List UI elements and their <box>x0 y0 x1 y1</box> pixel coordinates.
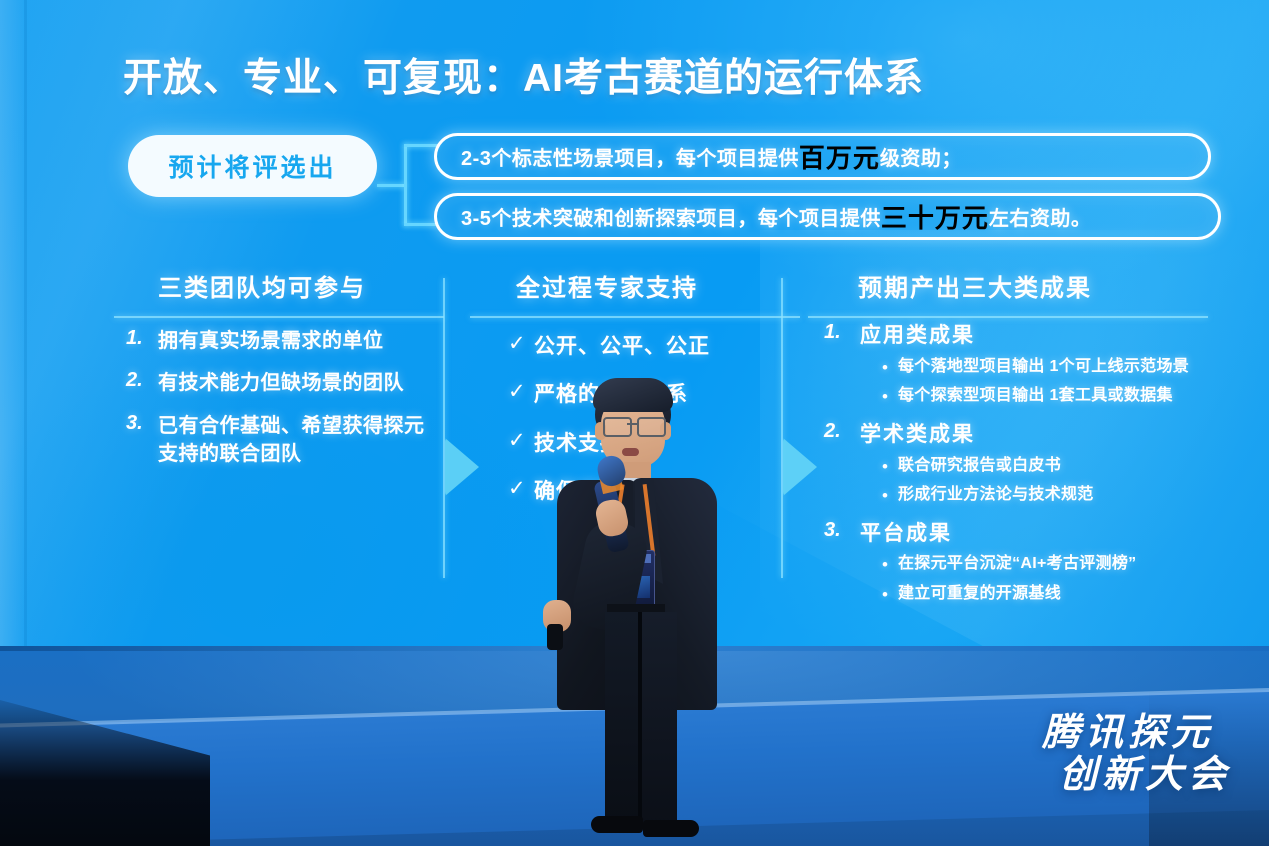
funding-pill-2-amount: 三十万元 <box>881 198 989 235</box>
glasses-bridge <box>627 423 638 425</box>
sub-list-item-label: 建立可重复的开源基线 <box>898 582 1061 606</box>
screen-panel-seam <box>24 0 27 648</box>
watermark-line-1: 腾讯探元 <box>1015 714 1241 754</box>
sub-list-item-label: 联合研究报告或白皮书 <box>898 454 1061 478</box>
funding-pill-2-text-c: 左右资助。 <box>989 202 1092 231</box>
list-item-label: 有技术能力但缺场景的团队 <box>158 369 404 397</box>
list-item-number: 1. <box>824 321 860 351</box>
list-item: 2. 有技术能力但缺场景的团队 <box>126 369 426 397</box>
glasses-icon <box>603 417 632 437</box>
column-3-list: 1. 应用类成果 • 每个落地型项目输出 1个可上线示范场景 • 每个探索型项目… <box>820 321 1196 607</box>
funding-pill-2: 3-5个技术突破和创新探索项目，每个项目提供 三十万元 左右资助。 <box>434 193 1221 240</box>
connector-stem <box>377 184 405 187</box>
bullet-icon: • <box>882 384 898 410</box>
list-item: 1. 拥有真实场景需求的单位 <box>126 327 426 355</box>
sub-list-item: • 建立可重复的开源基线 <box>882 582 1196 608</box>
sub-list: • 在探元平台沉淀“AI+考古评测榜” • 建立可重复的开源基线 <box>882 552 1196 607</box>
bullet-icon: • <box>882 355 898 381</box>
bracket-connector <box>377 140 439 235</box>
sub-list: • 联合研究报告或白皮书 • 形成行业方法论与技术规范 <box>882 454 1196 509</box>
list-item-number: 3. <box>824 519 860 549</box>
speaker-trouser-gap <box>638 612 642 824</box>
list-item-number: 3. <box>126 412 158 469</box>
list-item: 1. 应用类成果 <box>820 321 1196 351</box>
arrow-right-icon <box>445 438 479 496</box>
sub-list-item-label: 在探元平台沉淀“AI+考古评测榜” <box>898 552 1136 576</box>
sub-list-item: • 每个探索型项目输出 1套工具或数据集 <box>882 384 1196 410</box>
list-item-label: 平台成果 <box>860 519 952 549</box>
list-item-number: 1. <box>126 327 158 355</box>
funding-pill-1: 2-3个标志性场景项目，每个项目提供 百万元 级资助； <box>434 133 1211 180</box>
bullet-icon: • <box>882 454 898 480</box>
screen-left-edge-highlight <box>0 0 26 648</box>
list-item-label: 已有合作基础、希望获得探元支持的联合团队 <box>158 412 426 469</box>
list-item-label: 拥有真实场景需求的单位 <box>158 327 384 355</box>
sub-list-item-label: 每个落地型项目输出 1个可上线示范场景 <box>898 355 1189 379</box>
column-1-heading: 三类团队均可参与 <box>158 268 426 303</box>
lead-pill: 预计将评选出 <box>128 135 377 197</box>
sub-list-item-label: 形成行业方法论与技术规范 <box>898 483 1094 507</box>
column-expected-outcomes: 预期产出三大类成果 1. 应用类成果 • 每个落地型项目输出 1个可上线示范场景… <box>820 268 1196 617</box>
column-1-list: 1. 拥有真实场景需求的单位 2. 有技术能力但缺场景的团队 3. 已有合作基础… <box>126 327 426 469</box>
connector-branch-bottom <box>404 223 438 226</box>
list-item: 2. 学术类成果 <box>820 420 1196 450</box>
sub-list-item: • 形成行业方法论与技术规范 <box>882 483 1196 509</box>
speaker-hair-front <box>593 378 673 412</box>
column-2-heading: 全过程专家支持 <box>516 268 782 303</box>
speaker-leg-right <box>641 612 677 826</box>
slide-title: 开放、专业、可复现：AI考古赛道的运行体系 <box>123 47 1123 103</box>
speaker-shoe-left <box>591 816 643 833</box>
speaker-mouth <box>622 448 639 456</box>
column-divider-1 <box>443 278 445 578</box>
event-logo-watermark: 腾讯探元 创新大会 <box>1015 714 1241 820</box>
speaker-leg-left <box>605 612 639 826</box>
check-icon: ✓ <box>508 333 534 354</box>
list-item-number: 2. <box>126 369 158 397</box>
bullet-icon: • <box>882 483 898 509</box>
column-eligible-teams: 三类团队均可参与 1. 拥有真实场景需求的单位 2. 有技术能力但缺场景的团队 … <box>126 268 426 469</box>
watermark-line-2: 创新大会 <box>1049 754 1241 797</box>
list-item-label: 学术类成果 <box>860 420 975 450</box>
presentation-clicker <box>547 624 563 650</box>
glasses-icon <box>637 417 666 437</box>
funding-pill-2-text-a: 3-5个技术突破和创新探索项目，每个项目提供 <box>461 202 881 231</box>
sub-list-item: • 每个落地型项目输出 1个可上线示范场景 <box>882 355 1196 381</box>
funding-pill-1-text-c: 级资助； <box>880 142 962 171</box>
sub-list-item-label: 每个探索型项目输出 1套工具或数据集 <box>898 384 1173 408</box>
speaker-shoe-right <box>643 820 699 837</box>
sub-list-item: • 联合研究报告或白皮书 <box>882 454 1196 480</box>
list-item-label: 应用类成果 <box>860 321 975 351</box>
connector-spine <box>404 144 407 226</box>
bullet-icon: • <box>882 582 898 608</box>
list-item: 3. 平台成果 <box>820 519 1196 549</box>
list-item: ✓ 公开、公平、公正 <box>508 333 782 361</box>
connector-branch-top <box>404 144 438 147</box>
funding-pill-1-amount: 百万元 <box>799 138 880 175</box>
sub-list-item: • 在探元平台沉淀“AI+考古评测榜” <box>882 552 1196 578</box>
list-item: 3. 已有合作基础、希望获得探元支持的联合团队 <box>126 412 426 469</box>
speaker-presenter <box>519 372 749 846</box>
sub-list: • 每个落地型项目输出 1个可上线示范场景 • 每个探索型项目输出 1套工具或数… <box>882 355 1196 410</box>
conference-stage-photo: 开放、专业、可复现：AI考古赛道的运行体系 预计将评选出 2-3个标志性场景项目… <box>0 0 1269 846</box>
arrow-right-icon <box>783 438 817 496</box>
bullet-icon: • <box>882 552 898 578</box>
list-item-label: 公开、公平、公正 <box>534 333 710 361</box>
list-item-number: 2. <box>824 420 860 450</box>
funding-pill-1-text-a: 2-3个标志性场景项目，每个项目提供 <box>461 142 799 171</box>
lead-pill-label: 预计将评选出 <box>168 148 336 184</box>
column-3-heading: 预期产出三大类成果 <box>858 268 1196 303</box>
